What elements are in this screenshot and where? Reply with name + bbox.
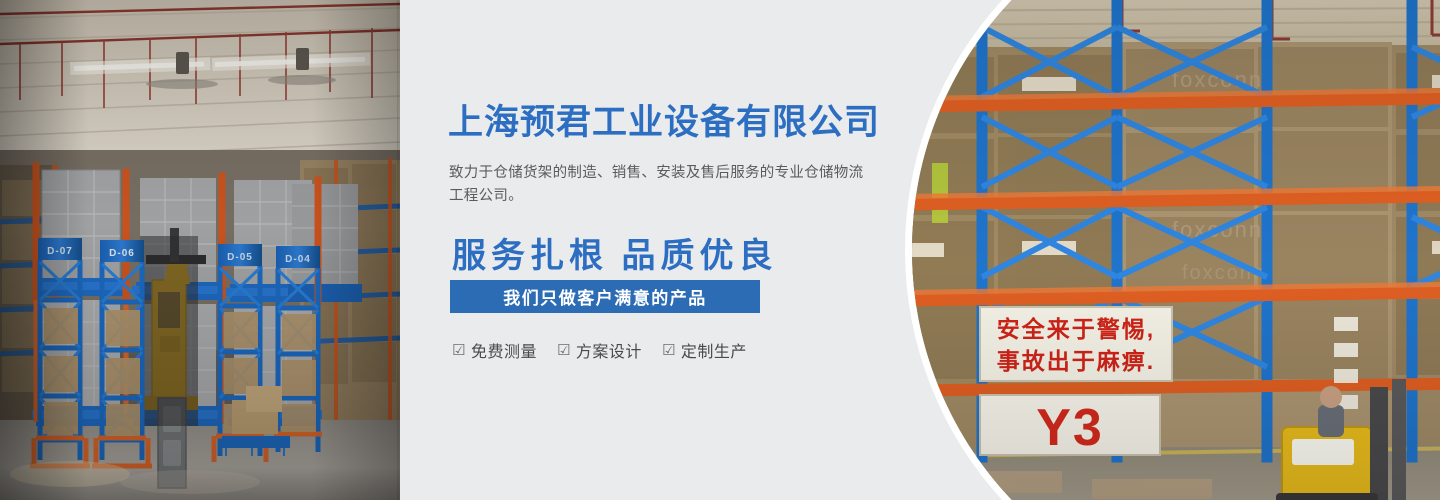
promo-banner: D-07 D-06	[0, 0, 1440, 500]
right-photo-graphic: foxconn foxconn foxconn	[905, 0, 1440, 500]
check-box-icon: ☑	[557, 343, 571, 358]
company-title: 上海预君工业设备有限公司	[448, 104, 880, 143]
company-subtitle: 致力于仓储货架的制造、销售、安装及售后服务的专业仓储物流工程公司。	[449, 162, 869, 209]
feature-item-plan-design: ☑ 方案设计	[557, 338, 642, 362]
feature-item-free-measure: ☑ 免费测量	[452, 338, 537, 362]
check-box-icon: ☑	[662, 343, 676, 358]
right-warehouse-photo: foxconn foxconn foxconn	[905, 0, 1440, 500]
slogan-text: 服务扎根 品质优良	[452, 228, 778, 277]
left-photo-graphic: D-07 D-06	[0, 0, 400, 500]
check-box-icon: ☑	[452, 343, 466, 358]
cta-button[interactable]: 我们只做客户满意的产品	[450, 280, 760, 313]
left-warehouse-photo: D-07 D-06	[0, 0, 400, 500]
banner-content: 上海预君工业设备有限公司 致力于仓储货架的制造、销售、安装及售后服务的专业仓储物…	[448, 0, 918, 500]
feature-label: 方案设计	[576, 338, 642, 362]
feature-list: ☑ 免费测量 ☑ 方案设计 ☑ 定制生产	[452, 338, 747, 362]
feature-label: 免费测量	[471, 338, 537, 362]
feature-item-custom-production: ☑ 定制生产	[662, 338, 747, 362]
feature-label: 定制生产	[681, 338, 747, 362]
